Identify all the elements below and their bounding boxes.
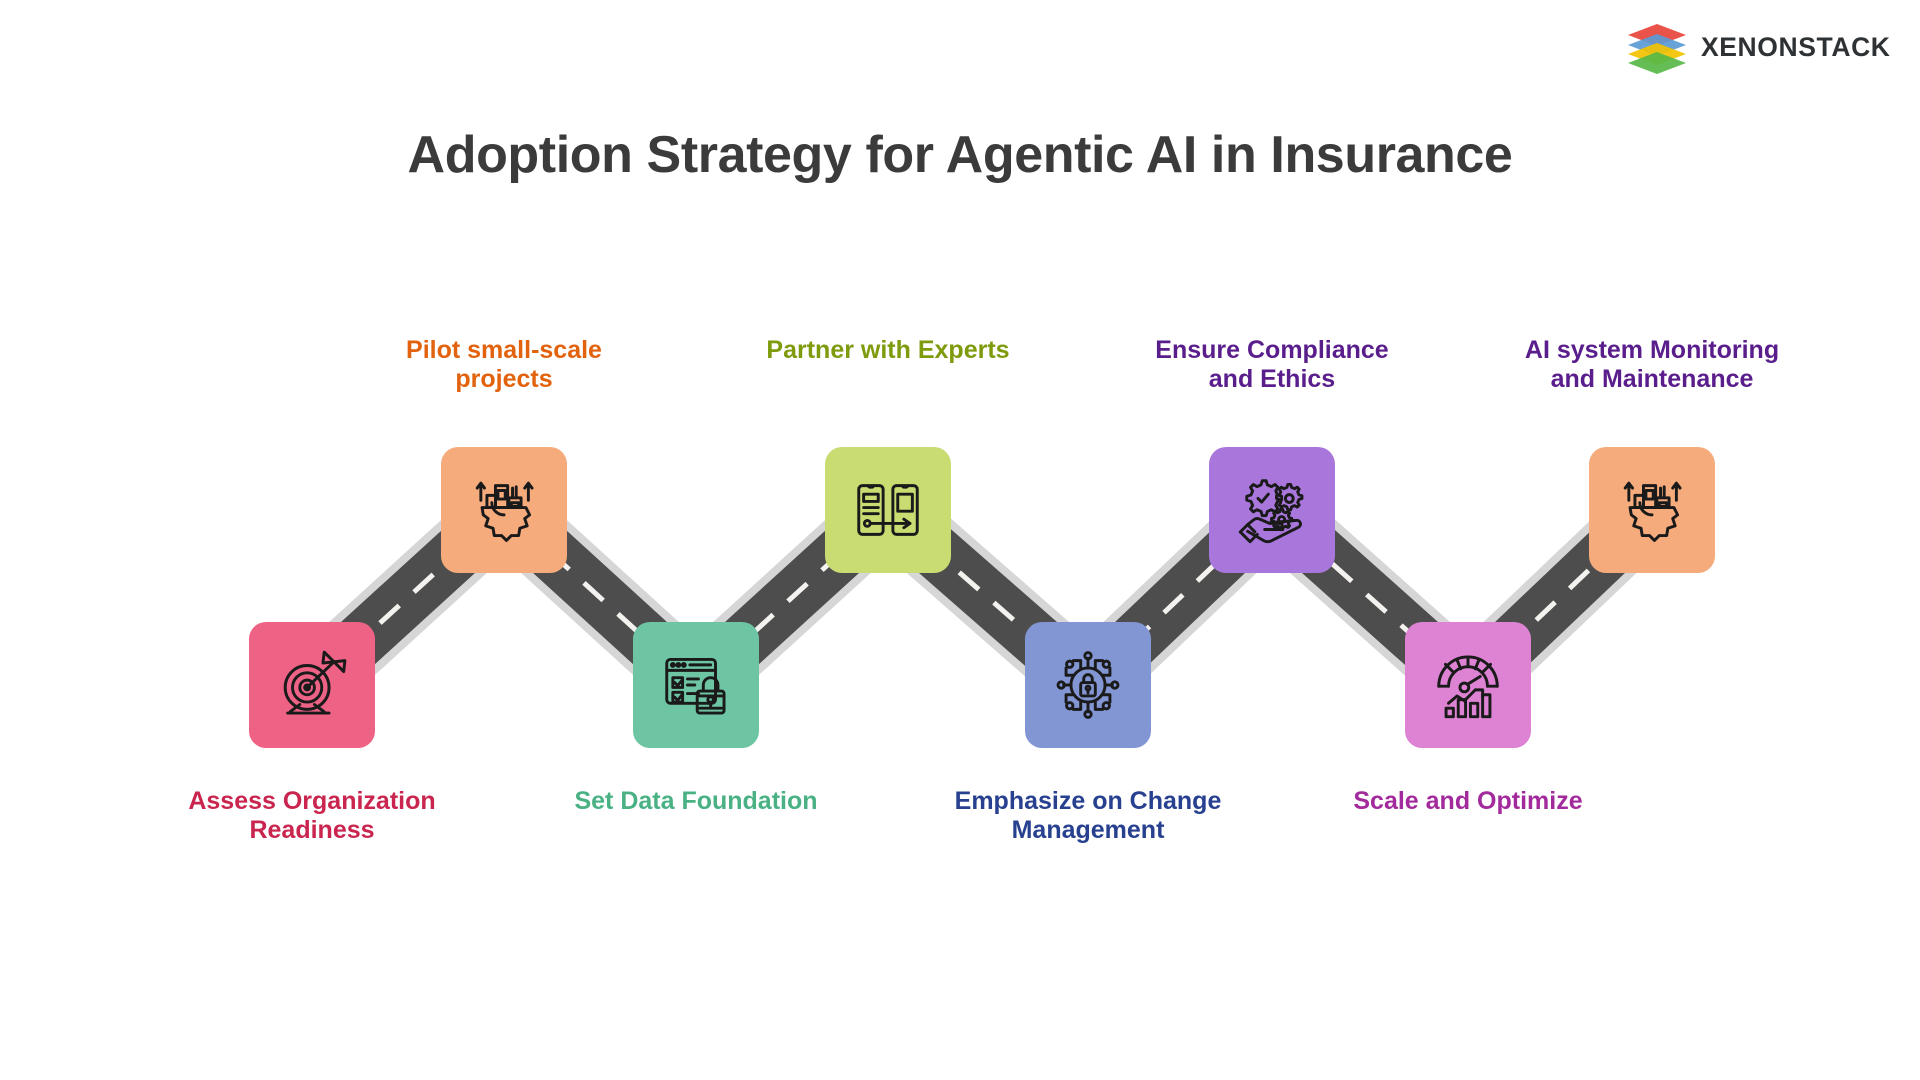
- gauge-growth-chart-icon: [1429, 646, 1507, 724]
- factory-gear-growth-icon: [1613, 471, 1691, 549]
- cyber-network-lock-icon: [1049, 646, 1127, 724]
- step-5-label: Emphasize on Change Management: [948, 787, 1228, 846]
- step-6-label: Ensure Compliance and Ethics: [1132, 336, 1412, 395]
- step-2-tile[interactable]: [441, 447, 567, 573]
- step-4-tile[interactable]: [825, 447, 951, 573]
- step-7-label: Scale and Optimize: [1328, 787, 1608, 816]
- checklist-browser-lock-icon: [657, 646, 735, 724]
- step-1-tile[interactable]: [249, 622, 375, 748]
- target-arrow-icon: [273, 646, 351, 724]
- step-8-tile[interactable]: [1589, 447, 1715, 573]
- step-2-label: Pilot small-scale projects: [364, 336, 644, 395]
- step-4-label: Partner with Experts: [748, 336, 1028, 365]
- step-3-label: Set Data Foundation: [556, 787, 836, 816]
- step-6-tile[interactable]: [1209, 447, 1335, 573]
- step-5-tile[interactable]: [1025, 622, 1151, 748]
- two-phones-transfer-icon: [849, 471, 927, 549]
- step-7-tile[interactable]: [1405, 622, 1531, 748]
- infographic-canvas: XENONSTACK Adoption Strategy for Agentic…: [0, 0, 1920, 1080]
- hand-gears-check-icon: [1233, 471, 1311, 549]
- factory-gear-growth-icon: [465, 471, 543, 549]
- step-3-tile[interactable]: [633, 622, 759, 748]
- step-8-label: AI system Monitoring and Maintenance: [1512, 336, 1792, 395]
- step-1-label: Assess Organization Readiness: [172, 787, 452, 846]
